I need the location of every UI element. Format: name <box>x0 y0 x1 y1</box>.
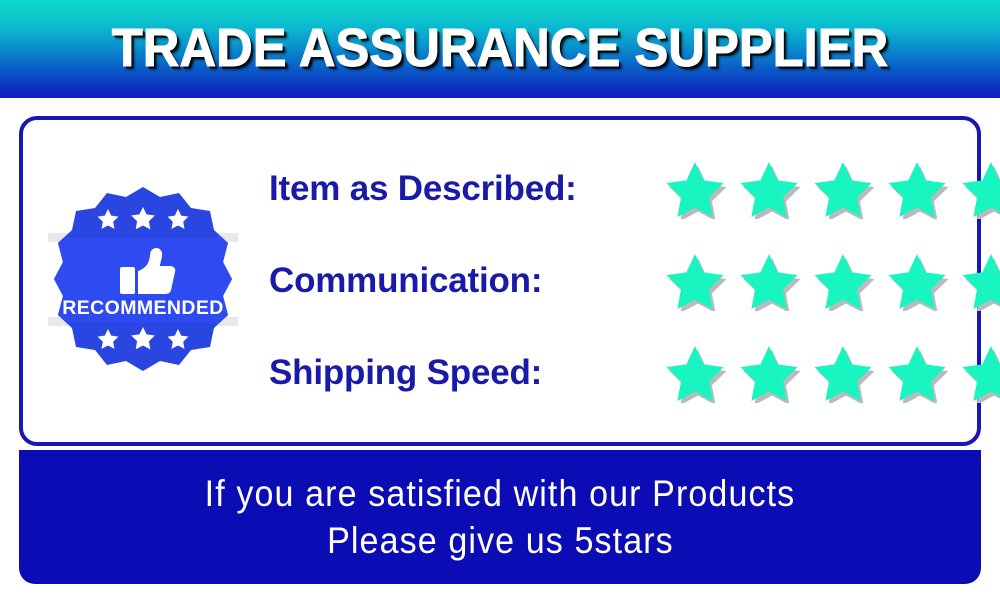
star-icon[interactable] <box>738 343 800 403</box>
star-icon[interactable] <box>664 343 726 403</box>
star-icon[interactable] <box>738 159 800 219</box>
star-icon[interactable] <box>812 159 874 219</box>
recommended-badge: RECOMMENDED <box>29 161 257 401</box>
star-icon[interactable] <box>664 159 726 219</box>
badge-label: RECOMMENDED <box>62 297 224 319</box>
rating-label-shipping-speed: Shipping Speed: <box>269 353 664 393</box>
banner-line-1: If you are satisfied with our Products <box>205 470 796 517</box>
star-icon[interactable] <box>664 251 726 311</box>
star-icon[interactable] <box>738 251 800 311</box>
star-icon[interactable] <box>886 251 948 311</box>
rating-stars-item-as-described[interactable] <box>664 159 1000 219</box>
ratings-card: RECOMMENDED Item as Described: <box>19 116 981 446</box>
star-icon[interactable] <box>960 159 1000 219</box>
star-icon[interactable] <box>886 159 948 219</box>
rating-row-communication: Communication: <box>269 235 1000 327</box>
rating-label-communication: Communication: <box>269 261 664 301</box>
rating-stars-communication[interactable] <box>664 251 1000 311</box>
recommended-seal-graphic: RECOMMENDED <box>48 181 238 381</box>
trade-assurance-poster: TRADE ASSURANCE SUPPLIER <box>0 0 1000 601</box>
banner-line-2: Please give us 5stars <box>327 517 674 564</box>
star-icon[interactable] <box>960 343 1000 403</box>
star-icon[interactable] <box>960 251 1000 311</box>
star-icon[interactable] <box>886 343 948 403</box>
page-title: TRADE ASSURANCE SUPPLIER <box>112 17 889 79</box>
rating-row-shipping-speed: Shipping Speed: <box>269 327 1000 419</box>
ratings-list: Item as Described: Communication: <box>257 120 1000 442</box>
rating-label-item-as-described: Item as Described: <box>269 169 664 209</box>
star-icon[interactable] <box>812 251 874 311</box>
star-icon[interactable] <box>812 343 874 403</box>
rating-stars-shipping-speed[interactable] <box>664 343 1000 403</box>
header-banner: TRADE ASSURANCE SUPPLIER <box>0 0 1000 98</box>
rating-row-item-as-described: Item as Described: <box>269 143 1000 235</box>
call-to-action-banner: If you are satisfied with our Products P… <box>19 450 981 584</box>
